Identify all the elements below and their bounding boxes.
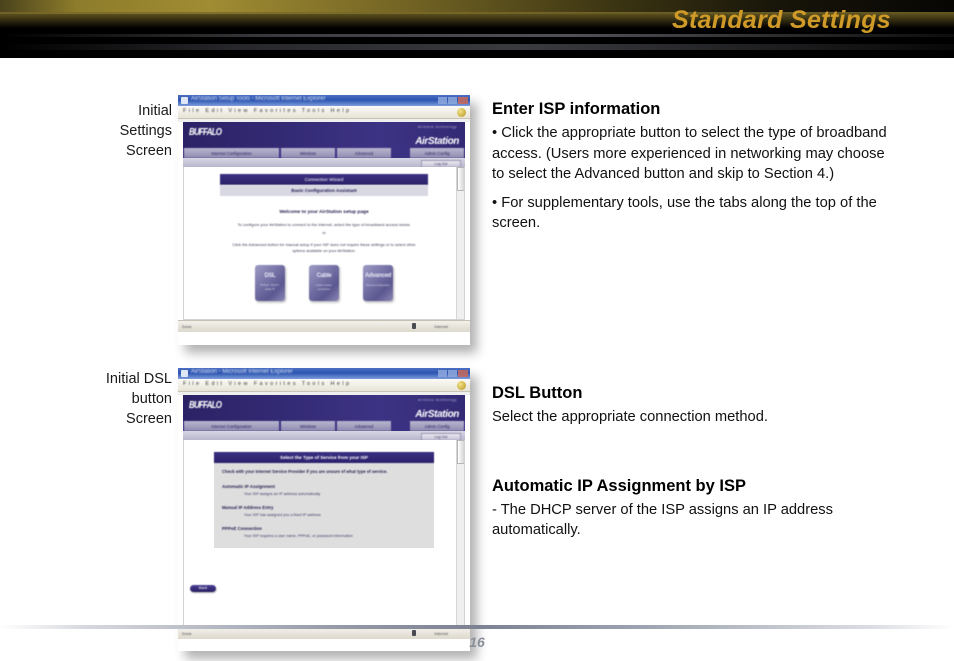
section-paragraph-automatic-ip: - The DHCP server of the ISP assigns an … bbox=[492, 500, 888, 541]
advanced-button-sublabel: Manual configuration bbox=[365, 284, 391, 288]
option-description: Your ISP has assigned you a fixed IP add… bbox=[244, 513, 426, 517]
browser-titlebar-text: AirStation - Microsoft Internet Explorer bbox=[191, 369, 293, 375]
nav-tab-gap bbox=[393, 148, 408, 158]
dsl-button-label: DSL bbox=[255, 273, 285, 279]
browser-menu-items: File Edit View Favorites Tools Help bbox=[183, 108, 351, 114]
section-spacer bbox=[492, 436, 888, 476]
browser-menu-items: File Edit View Favorites Tools Help bbox=[183, 381, 351, 387]
window-controls-icon[interactable] bbox=[438, 97, 468, 104]
section-bullet-2: • For supplementary tools, use the tabs … bbox=[492, 193, 888, 234]
browser-titlebar: AirStation - Microsoft Internet Explorer bbox=[178, 368, 470, 379]
nav-tab-advanced[interactable]: Advanced bbox=[337, 148, 391, 158]
nav-tab-admin-config[interactable]: Admin Config bbox=[410, 421, 464, 431]
wizard-heading: Welcome to your AirStation setup page bbox=[184, 210, 464, 215]
footer-divider bbox=[0, 625, 954, 629]
dsl-button-sublabel: PPPoE / DHCP / Static IP bbox=[257, 284, 283, 291]
status-zone-text: Internet bbox=[434, 324, 448, 329]
option-automatic-ip[interactable]: Automatic IP Assignment Your ISP assigns… bbox=[222, 484, 426, 496]
caption-initial-settings-screen: Initial Settings Screen bbox=[42, 101, 172, 161]
browser-viewport: Select the Type of Service from your ISP… bbox=[183, 440, 465, 627]
scrollbar-thumb[interactable] bbox=[457, 167, 465, 191]
airstation-wordmark: AirStation bbox=[415, 136, 459, 147]
page-header-banner: Standard Settings bbox=[0, 0, 954, 58]
browser-menubar[interactable]: File Edit View Favorites Tools Help bbox=[178, 106, 470, 119]
nav-tab-internet-configuration[interactable]: Internet Configuration bbox=[184, 148, 279, 158]
wizard-or-text: or bbox=[184, 230, 464, 235]
cable-button-sublabel: Cable modem connection bbox=[311, 284, 337, 291]
browser-brand-icon bbox=[457, 381, 466, 390]
nav-tab-admin-config[interactable]: Admin Config bbox=[410, 148, 464, 158]
caption-line: Initial DSL button Screen bbox=[42, 369, 172, 429]
section-enter-isp-information: Enter ISP information • Click the approp… bbox=[492, 99, 888, 242]
nav-tab-advanced[interactable]: Advanced bbox=[337, 421, 391, 431]
advanced-button-label: Advanced bbox=[363, 273, 393, 279]
browser-viewport: Connection Wizard Basic Configuration As… bbox=[183, 167, 465, 320]
section-heading: DSL Button bbox=[492, 383, 888, 404]
page-number: 16 bbox=[0, 634, 954, 650]
wizard-paragraph-1: To configure your AirStation to connect … bbox=[230, 222, 418, 228]
advanced-button[interactable]: Advanced Manual configuration bbox=[363, 265, 393, 301]
panel-title: Connection Wizard bbox=[220, 174, 428, 185]
panel-title: Select the Type of Service from your ISP bbox=[214, 452, 434, 463]
airstation-tagline: wireless technology bbox=[418, 125, 457, 129]
airstation-header: BUFFALO wireless technology AirStation bbox=[183, 395, 465, 421]
nav-tab-gap bbox=[393, 421, 408, 431]
airstation-tagline: wireless technology bbox=[418, 398, 457, 402]
airstation-wordmark: AirStation bbox=[415, 409, 459, 420]
screenshot-initial-settings-screen: AirStation Setup Tools - Microsoft Inter… bbox=[178, 95, 470, 345]
browser-menubar[interactable]: File Edit View Favorites Tools Help bbox=[178, 379, 470, 392]
caption-line: Initial Settings Screen bbox=[42, 101, 172, 161]
back-button[interactable]: Back bbox=[190, 585, 216, 592]
section-heading: Enter ISP information bbox=[492, 99, 888, 120]
caption-initial-dsl-button-screen: Initial DSL button Screen bbox=[42, 369, 172, 429]
page-body: Initial Settings Screen AirStation Setup… bbox=[0, 58, 954, 603]
page-footer: 16 bbox=[0, 603, 954, 661]
scrollbar-thumb[interactable] bbox=[457, 440, 465, 464]
window-controls-icon[interactable] bbox=[438, 370, 468, 377]
section-bullet-1: • Click the appropriate button to select… bbox=[492, 123, 888, 185]
section-dsl-button: DSL Button Select the appropriate connec… bbox=[492, 383, 888, 541]
browser-brand-icon bbox=[457, 108, 466, 117]
airstation-subbar: Log Out bbox=[183, 158, 465, 167]
option-title: Manual IP Address Entry bbox=[222, 505, 426, 510]
browser-window-icon bbox=[181, 370, 188, 377]
viewport-scrollbar[interactable] bbox=[456, 440, 464, 626]
option-title: Automatic IP Assignment bbox=[222, 484, 426, 489]
option-title: PPPoE Connection bbox=[222, 526, 426, 531]
service-type-panel: Select the Type of Service from your ISP… bbox=[214, 452, 434, 548]
airstation-nav-tabs[interactable]: Internet Configuration Wireless Advanced… bbox=[183, 148, 465, 158]
section-paragraph: Select the appropriate connection method… bbox=[492, 407, 888, 428]
airstation-subbar: Log Out bbox=[183, 431, 465, 440]
nav-tab-wireless[interactable]: Wireless bbox=[281, 148, 335, 158]
cable-button-label: Cable bbox=[309, 273, 339, 279]
buffalo-logo: BUFFALO bbox=[189, 127, 221, 138]
dsl-button[interactable]: DSL PPPoE / DHCP / Static IP bbox=[255, 265, 285, 301]
browser-titlebar: AirStation Setup Tools - Microsoft Inter… bbox=[178, 95, 470, 106]
panel-subtitle: Basic Configuration Assistant bbox=[220, 185, 428, 196]
wizard-paragraph-2: Click the Advanced button for manual set… bbox=[230, 242, 418, 254]
nav-tab-internet-configuration[interactable]: Internet Configuration bbox=[184, 421, 279, 431]
option-description: Your ISP assigns an IP address automatic… bbox=[244, 492, 426, 496]
airstation-nav-tabs[interactable]: Internet Configuration Wireless Advanced… bbox=[183, 421, 465, 431]
buffalo-logo: BUFFALO bbox=[189, 400, 221, 411]
page-title: Standard Settings bbox=[672, 6, 891, 35]
connection-wizard-panel: Connection Wizard Basic Configuration As… bbox=[220, 174, 428, 196]
header-sheen-line-2 bbox=[0, 44, 954, 50]
viewport-scrollbar[interactable] bbox=[456, 167, 464, 319]
panel-intro-text: Check with your Internet Service Provide… bbox=[222, 469, 426, 475]
option-manual-ip[interactable]: Manual IP Address Entry Your ISP has ass… bbox=[222, 505, 426, 517]
browser-window-icon bbox=[181, 97, 188, 104]
option-pppoe[interactable]: PPPoE Connection Your ISP requires a use… bbox=[222, 526, 426, 538]
status-text: Done bbox=[182, 324, 192, 329]
cable-button[interactable]: Cable Cable modem connection bbox=[309, 265, 339, 301]
browser-titlebar-text: AirStation Setup Tools - Microsoft Inter… bbox=[191, 96, 326, 102]
nav-tab-wireless[interactable]: Wireless bbox=[281, 421, 335, 431]
section-heading-automatic-ip: Automatic IP Assignment by ISP bbox=[492, 476, 888, 497]
broadband-type-buttons: DSL PPPoE / DHCP / Static IP Cable Cable… bbox=[184, 265, 464, 301]
option-description: Your ISP requires a user name, PPPoE, or… bbox=[244, 534, 426, 538]
airstation-header: BUFFALO wireless technology AirStation bbox=[183, 122, 465, 148]
browser-statusbar: Done Internet bbox=[178, 320, 470, 332]
lock-icon bbox=[412, 323, 416, 329]
